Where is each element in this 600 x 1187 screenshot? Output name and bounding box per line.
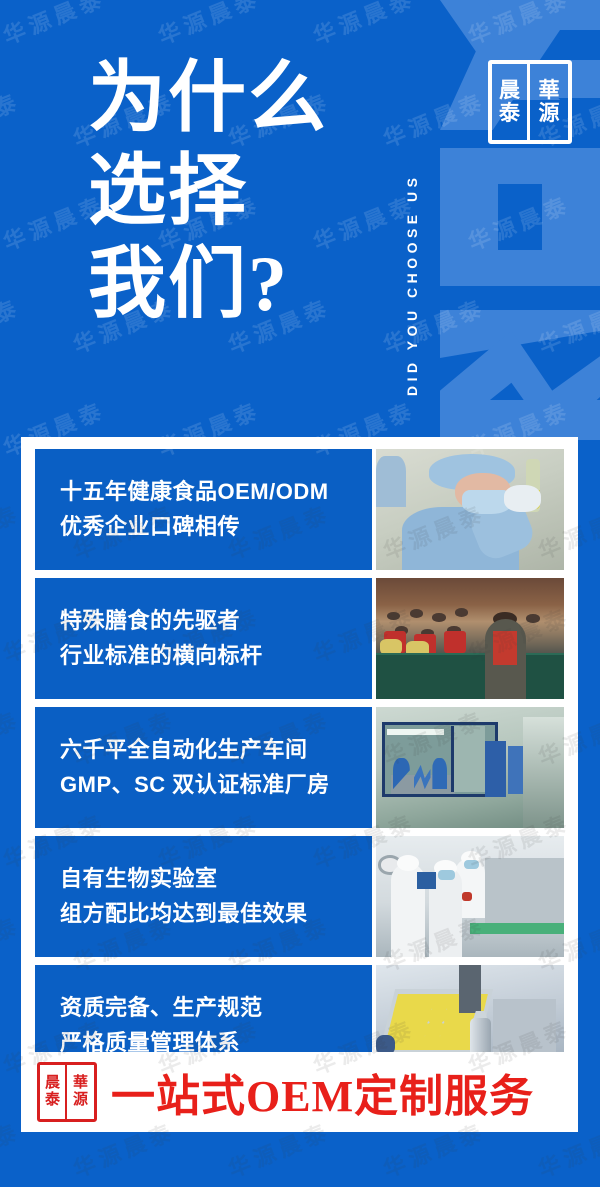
seal-right-column: 華 源 (67, 1065, 94, 1119)
feature-line-2: 组方配比均达到最佳效果 (60, 897, 372, 931)
seal-char: 華 (539, 80, 560, 101)
feature-text-block: 六千平全自动化生产车间 GMP、SC 双认证标准厂房 (35, 707, 372, 828)
cta-text: 一站式OEM定制服务 (111, 1060, 534, 1124)
brand-seal-logo-red: 晨 泰 華 源 (37, 1062, 97, 1122)
seal-char: 晨 (45, 1076, 60, 1091)
seal-char: 晨 (499, 80, 520, 101)
feature-line-2: 优秀企业口碑相传 (60, 510, 372, 544)
list-item[interactable]: 特殊膳食的先驱者 行业标准的横向标杆 (35, 578, 564, 699)
vertical-tagline: DID YOU CHOOSE US (404, 16, 432, 396)
conference-audience-photo (376, 578, 564, 699)
poster-root: 为什么 选择 我们? DID YOU CHOOSE US 晨 泰 華 源 十五年… (0, 0, 600, 1187)
feature-text-block: 特殊膳食的先驱者 行业标准的横向标杆 (35, 578, 372, 699)
feature-line-1: 十五年健康食品OEM/ODM (60, 475, 372, 509)
seal-char: 泰 (45, 1093, 60, 1108)
feature-text-block: 自有生物实验室 组方配比均达到最佳效果 (35, 836, 372, 957)
feature-line-2: 行业标准的横向标杆 (60, 639, 372, 673)
page-title: 为什么 选择 我们? (88, 52, 388, 330)
seal-left-column: 晨 泰 (492, 64, 530, 140)
seal-char: 源 (539, 103, 560, 124)
feature-line-1: 特殊膳食的先驱者 (60, 604, 372, 638)
seal-left-column: 晨 泰 (40, 1065, 67, 1119)
feature-line-1: 自有生物实验室 (60, 862, 372, 896)
poster-header: 为什么 选择 我们? DID YOU CHOOSE US 晨 泰 華 源 (0, 0, 600, 437)
title-line-2: 选择 (88, 145, 388, 238)
cleanroom-corridor-photo (376, 707, 564, 828)
features-list: 十五年健康食品OEM/ODM 优秀企业口碑相传 特殊膳食的先驱者 行业标准的横向… (35, 449, 564, 1094)
seal-char: 源 (73, 1093, 88, 1108)
list-item[interactable]: 十五年健康食品OEM/ODM 优秀企业口碑相传 (35, 449, 564, 570)
features-panel: 十五年健康食品OEM/ODM 优秀企业口碑相传 特殊膳食的先驱者 行业标准的横向… (21, 437, 578, 1132)
seal-right-column: 華 源 (530, 64, 568, 140)
feature-text-block: 十五年健康食品OEM/ODM 优秀企业口碑相传 (35, 449, 372, 570)
production-line-workers-photo (376, 836, 564, 957)
brand-seal-logo-white: 晨 泰 華 源 (488, 60, 572, 144)
list-item[interactable]: 自有生物实验室 组方配比均达到最佳效果 (35, 836, 564, 957)
feature-line-1: 六千平全自动化生产车间 (60, 733, 372, 767)
title-line-1: 为什么 (88, 52, 388, 145)
seal-char: 泰 (499, 103, 520, 124)
feature-line-2: GMP、SC 双认证标准厂房 (60, 768, 372, 802)
list-item[interactable]: 六千平全自动化生产车间 GMP、SC 双认证标准厂房 (35, 707, 564, 828)
bottom-cta-banner[interactable]: 晨 泰 華 源 一站式OEM定制服务 (21, 1052, 578, 1132)
lab-technician-photo (376, 449, 564, 570)
feature-line-1: 资质完备、生产规范 (60, 991, 372, 1025)
title-line-3: 我们? (88, 238, 388, 331)
seal-char: 華 (73, 1076, 88, 1091)
